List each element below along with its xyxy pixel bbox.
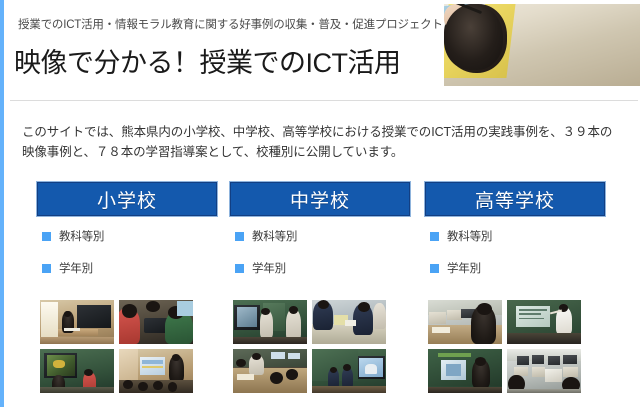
thumbnail-grid-high-school <box>428 300 581 393</box>
site-header: 授業でのICT活用・情報モラル教育に関する好事例の収集・普及・促進プロジェクト … <box>4 0 640 101</box>
link-label: 教科等別 <box>447 228 492 244</box>
thumbnail-image[interactable] <box>233 300 307 344</box>
link-label: 教科等別 <box>252 228 297 244</box>
thumbnail-image[interactable] <box>428 300 502 344</box>
thumbnail-image[interactable] <box>40 300 114 344</box>
blue-square-bullet-icon <box>430 232 439 241</box>
column-header-button-elementary[interactable]: 小学校 <box>36 181 218 217</box>
column-header-button-junior-high[interactable]: 中学校 <box>229 181 411 217</box>
thumbnail-image[interactable] <box>119 300 193 344</box>
link-label: 学年別 <box>447 260 481 276</box>
blue-square-bullet-icon <box>235 264 244 273</box>
header-subtitle: 授業でのICT活用・情報モラル教育に関する好事例の収集・普及・促進プロジェクト <box>18 16 443 32</box>
intro-paragraph: このサイトでは、熊本県内の小学校、中学校、高等学校における授業でのICT活用の実… <box>22 122 622 162</box>
thumbnail-image[interactable] <box>119 349 193 393</box>
page-title: 映像で分かる！授業でのICT活用 <box>14 41 401 80</box>
column-links-junior-high: 教科等別 学年別 <box>229 229 411 275</box>
blue-square-bullet-icon <box>42 232 51 241</box>
thumbnail-image[interactable] <box>40 349 114 393</box>
page-root: 授業でのICT活用・情報モラル教育に関する好事例の収集・普及・促進プロジェクト … <box>0 0 640 407</box>
thumbnail-image[interactable] <box>312 300 386 344</box>
link-high-school-by-subject[interactable]: 教科等別 <box>430 229 606 243</box>
link-junior-high-by-grade[interactable]: 学年別 <box>235 261 411 275</box>
column-junior-high: 中学校 教科等別 学年別 <box>229 181 411 293</box>
link-elementary-by-grade[interactable]: 学年別 <box>42 261 218 275</box>
thumbnail-image[interactable] <box>233 349 307 393</box>
column-links-elementary: 教科等別 学年別 <box>36 229 218 275</box>
blue-square-bullet-icon <box>42 264 51 273</box>
header-banner-photo <box>444 4 640 86</box>
column-header-button-high-school[interactable]: 高等学校 <box>424 181 606 217</box>
column-header-label: 高等学校 <box>475 186 555 213</box>
thumbnail-image[interactable] <box>507 300 581 344</box>
thumbnail-image[interactable] <box>428 349 502 393</box>
blue-square-bullet-icon <box>235 232 244 241</box>
thumbnail-grid-elementary <box>40 300 193 393</box>
header-divider <box>10 100 638 101</box>
column-links-high-school: 教科等別 学年別 <box>424 229 606 275</box>
school-type-columns: 小学校 教科等別 学年別 <box>0 181 640 407</box>
column-header-label: 小学校 <box>97 186 157 213</box>
link-elementary-by-subject[interactable]: 教科等別 <box>42 229 218 243</box>
column-header-label: 中学校 <box>290 186 350 213</box>
thumbnail-image[interactable] <box>312 349 386 393</box>
link-label: 学年別 <box>252 260 286 276</box>
link-label: 教科等別 <box>59 228 104 244</box>
link-junior-high-by-subject[interactable]: 教科等別 <box>235 229 411 243</box>
column-high-school: 高等学校 教科等別 学年別 <box>424 181 606 293</box>
blue-square-bullet-icon <box>430 264 439 273</box>
link-label: 学年別 <box>59 260 93 276</box>
link-high-school-by-grade[interactable]: 学年別 <box>430 261 606 275</box>
thumbnail-grid-junior-high <box>233 300 386 393</box>
column-elementary: 小学校 教科等別 学年別 <box>36 181 218 293</box>
thumbnail-image[interactable] <box>507 349 581 393</box>
